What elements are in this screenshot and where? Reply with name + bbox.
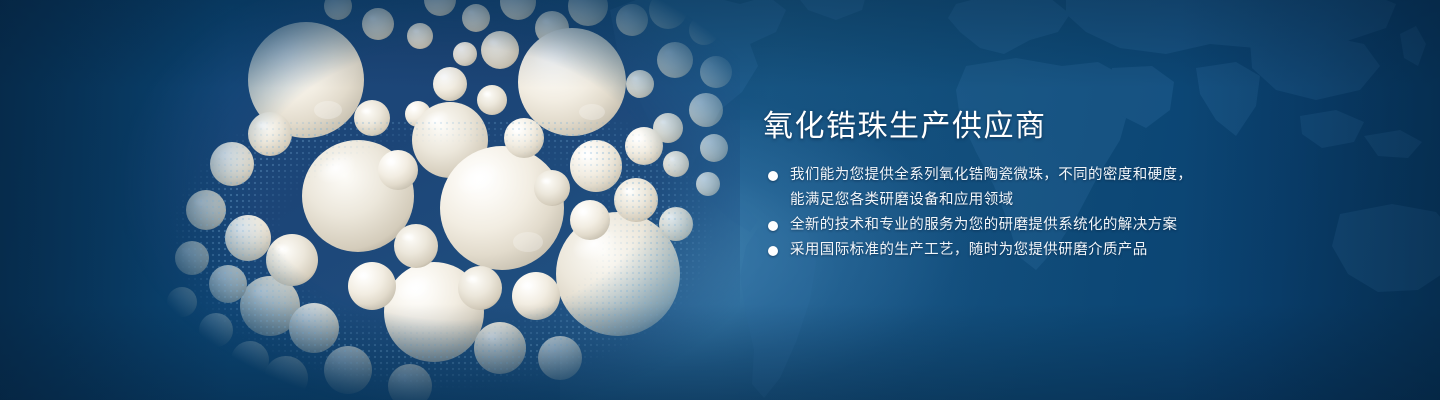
list-item-line-1: 全新的技术和专业的服务为您的研磨提供系统化的解决方案 [790,217,1177,233]
list-item-line-1: 采用国际标准的生产工艺，随时为您提供研磨介质产品 [790,242,1148,258]
bullet-dot-icon [768,246,778,256]
list-item: 全新的技术和专业的服务为您的研磨提供系统化的解决方案 [763,213,1283,238]
list-item-line-1: 我们能为您提供全系列氧化锆陶瓷微珠，不同的密度和硬度， [790,167,1192,183]
bullet-dot-icon [768,221,778,231]
list-item: 我们能为您提供全系列氧化锆陶瓷微珠，不同的密度和硬度， 能满足您各类研磨设备和应… [763,163,1283,213]
list-item-line-2: 能满足您各类研磨设备和应用领域 [790,188,1283,213]
bullet-dot-icon [768,171,778,181]
list-item: 采用国际标准的生产工艺，随时为您提供研磨介质产品 [763,238,1283,263]
feature-list: 我们能为您提供全系列氧化锆陶瓷微珠，不同的密度和硬度， 能满足您各类研磨设备和应… [763,163,1283,263]
banner-copy: 氧化锆珠生产供应商 我们能为您提供全系列氧化锆陶瓷微珠，不同的密度和硬度， 能满… [763,108,1283,263]
hero-banner: 氧化锆珠生产供应商 我们能为您提供全系列氧化锆陶瓷微珠，不同的密度和硬度， 能满… [0,0,1440,400]
page-title: 氧化锆珠生产供应商 [763,108,1283,146]
